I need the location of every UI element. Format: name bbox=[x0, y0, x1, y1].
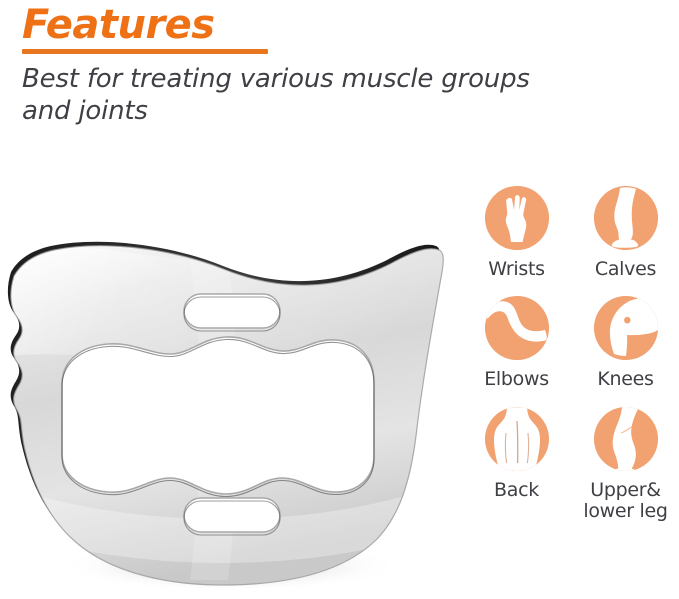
feature-item-back[interactable]: Back bbox=[468, 407, 565, 523]
feature-item-elbows[interactable]: Elbows bbox=[468, 296, 565, 390]
elbow-icon bbox=[485, 296, 549, 360]
feature-item-calves[interactable]: Calves bbox=[577, 186, 674, 280]
feature-label: Knees bbox=[597, 369, 653, 390]
feature-label: Calves bbox=[595, 259, 656, 280]
knee-icon bbox=[594, 296, 658, 360]
product-slot-lower bbox=[184, 498, 280, 535]
feature-label: Wrists bbox=[488, 259, 544, 280]
page-title: Features bbox=[22, 4, 542, 46]
feature-grid: Wrists Calves Elbows bbox=[468, 186, 674, 522]
calf-icon bbox=[594, 186, 658, 250]
product-image bbox=[0, 188, 462, 588]
header: Features Best for treating various muscl… bbox=[22, 4, 542, 127]
title-underline bbox=[22, 49, 268, 54]
feature-label: Back bbox=[494, 480, 539, 501]
feature-item-wrists[interactable]: Wrists bbox=[468, 186, 565, 280]
wrist-icon bbox=[485, 186, 549, 250]
product-central-cutout bbox=[62, 337, 374, 497]
feature-label: Upper& lower leg bbox=[583, 480, 667, 523]
feature-item-upper-lower-leg[interactable]: Upper& lower leg bbox=[577, 407, 674, 523]
leg-icon bbox=[594, 407, 658, 471]
feature-label: Elbows bbox=[484, 369, 549, 390]
product-slot-upper bbox=[184, 294, 280, 331]
page-subtitle: Best for treating various muscle groups … bbox=[22, 64, 542, 127]
feature-item-knees[interactable]: Knees bbox=[577, 296, 674, 390]
back-icon bbox=[485, 407, 549, 471]
